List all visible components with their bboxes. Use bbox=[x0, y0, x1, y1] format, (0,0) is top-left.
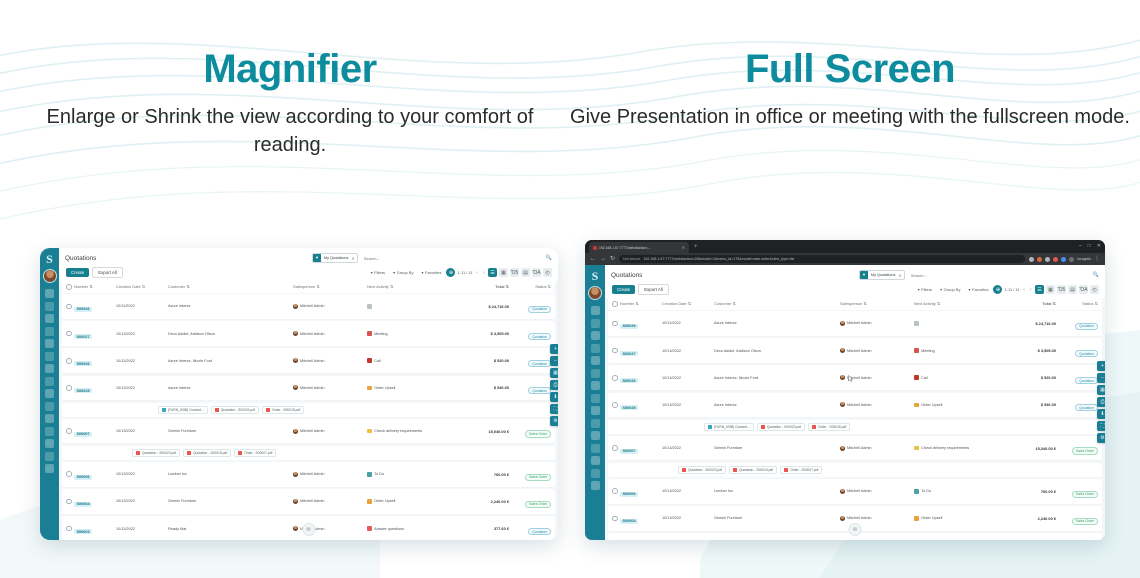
attachment-chip[interactable]: Quotation - S00023.pdf bbox=[757, 423, 805, 432]
cell-next-activity[interactable]: Check delivery requirements bbox=[914, 446, 1002, 451]
minimize-icon[interactable]: – bbox=[1079, 242, 1082, 250]
tool-group-by[interactable]: ▾Group By bbox=[390, 269, 416, 277]
order-number[interactable]: S00026 bbox=[620, 378, 638, 383]
row-checkbox[interactable] bbox=[66, 304, 74, 310]
magnifier-icon[interactable]: ⊕ bbox=[993, 285, 1002, 294]
save-button[interactable]: ⬇ bbox=[550, 392, 558, 402]
globe-icon[interactable] bbox=[45, 339, 54, 348]
arrow-left-icon[interactable]: ← bbox=[590, 256, 596, 262]
search-facet[interactable]: ▼ My Quotations ✕ bbox=[312, 253, 358, 263]
pdf-icon bbox=[266, 408, 270, 413]
settings-button[interactable]: ⚙ bbox=[1097, 433, 1105, 443]
row-checkbox[interactable] bbox=[66, 428, 74, 434]
salesperson-name: Mitchell Admin bbox=[300, 472, 324, 476]
people-icon[interactable] bbox=[591, 444, 600, 453]
column-header-creation-date[interactable]: Creation Date ⇅ bbox=[116, 284, 168, 289]
checkbox-icon bbox=[66, 499, 72, 505]
extension-icon bbox=[1029, 257, 1034, 262]
tool-group-by[interactable]: ▾Group By bbox=[937, 286, 963, 294]
magnifier-icon[interactable]: ⊕ bbox=[446, 268, 455, 277]
profile-label[interactable]: Incognito bbox=[1077, 257, 1091, 261]
box-icon[interactable] bbox=[591, 381, 600, 390]
row-checkbox[interactable] bbox=[612, 516, 620, 522]
gear-icon[interactable] bbox=[45, 464, 54, 473]
table-row[interactable]: S0000610/13/2022Lumber IncMitchell Admin… bbox=[608, 479, 1102, 505]
status-badge: Sales Order bbox=[525, 501, 551, 508]
table-row[interactable]: S0000710/13/2022Gemini FurnitureMitchell… bbox=[608, 436, 1102, 462]
window-controls[interactable]: – □ ✕ bbox=[1079, 242, 1101, 250]
status-badge: Quotation bbox=[528, 333, 551, 340]
avatar bbox=[293, 358, 298, 363]
row-checkbox[interactable] bbox=[612, 348, 620, 354]
attachment-row: Quotation - S00023.pdfQuotation - S00015… bbox=[62, 446, 555, 461]
cell-salesperson: Mitchell Admin bbox=[840, 489, 914, 494]
row-checkbox[interactable] bbox=[66, 358, 74, 364]
grid-button[interactable]: ▦ bbox=[550, 368, 558, 378]
status-badge: Quotation bbox=[1075, 323, 1098, 330]
clock-icon: ◴ bbox=[1092, 287, 1096, 293]
print-button[interactable]: ⎙ bbox=[1097, 397, 1105, 407]
activity-label: Meeting bbox=[374, 332, 388, 336]
pivot-view[interactable]: ▤ bbox=[521, 268, 530, 277]
export-all-button[interactable]: Export All bbox=[638, 284, 669, 295]
app-content: Quotations ▼ My Quotations ✕ 🔍 bbox=[605, 265, 1105, 540]
cell-number: S00007 bbox=[74, 422, 116, 440]
cell-status: Sales Order bbox=[1056, 439, 1098, 457]
table-row[interactable]: S0002610/13/2022Azure Interior, Nicole F… bbox=[62, 348, 555, 374]
cell-salesperson: Mitchell Admin bbox=[840, 321, 914, 326]
cell-total: 15,040.00 € bbox=[455, 429, 509, 434]
avatar[interactable] bbox=[43, 269, 57, 283]
cell-next-activity[interactable]: Meeting bbox=[914, 348, 1002, 353]
order-number[interactable]: S00027 bbox=[74, 334, 92, 339]
attachment-chip[interactable]: Quotation - S00015.pdf bbox=[183, 449, 231, 458]
avatar bbox=[293, 385, 298, 390]
order-number[interactable]: S00007 bbox=[74, 432, 92, 437]
table-body: S0002610/11/2022Azure InteriorMitchell A… bbox=[62, 294, 555, 540]
fullscreen-button[interactable]: ⛶ bbox=[1097, 421, 1105, 431]
star-icon: ▾ bbox=[968, 287, 970, 292]
order-number[interactable]: S00027 bbox=[620, 351, 638, 356]
attachment-chip[interactable]: Order - S00015.pdf bbox=[262, 406, 304, 415]
order-number[interactable]: S00026 bbox=[620, 324, 638, 329]
cell-number: S00027 bbox=[620, 342, 662, 360]
row-checkbox[interactable] bbox=[66, 526, 74, 532]
select-all-checkbox[interactable] bbox=[66, 284, 74, 290]
gear-icon[interactable] bbox=[591, 481, 600, 490]
cell-next-activity[interactable]: Answer questions bbox=[367, 526, 455, 531]
export-all-button[interactable]: Export All bbox=[92, 267, 123, 278]
attachment-chip[interactable]: Order - S00007.pdf bbox=[780, 466, 822, 475]
checkbox-icon bbox=[612, 348, 618, 354]
cell-total: $ 3,505.00 bbox=[1002, 348, 1056, 353]
create-button[interactable]: Create bbox=[612, 285, 635, 294]
activity-label: Call bbox=[921, 376, 928, 380]
order-number[interactable]: S00006 bbox=[620, 492, 638, 497]
create-button[interactable]: Create bbox=[66, 268, 89, 277]
checkbox-icon bbox=[612, 445, 618, 451]
status-badge: Quotation bbox=[1075, 404, 1098, 411]
attachment-chip[interactable]: [FURN_0096] Customi... bbox=[704, 423, 754, 432]
cell-next-activity[interactable]: Meeting bbox=[367, 331, 455, 336]
table-row[interactable]: S0000610/13/2022Lumber IncMitchell Admin… bbox=[62, 462, 555, 488]
attachment-name: Order - S00015.pdf bbox=[818, 425, 846, 429]
tool-filters[interactable]: ▾Filters bbox=[915, 286, 935, 294]
calendar-icon: Ὄ5 bbox=[1058, 287, 1066, 293]
list-view[interactable]: ☰ bbox=[488, 268, 497, 277]
globe-icon[interactable] bbox=[591, 356, 600, 365]
save-button[interactable]: ⬇ bbox=[1097, 409, 1105, 419]
list-view-table: Number ⇅Creation Date ⇅Customer ⇅Salespe… bbox=[605, 298, 1105, 540]
cell-salesperson: Mitchell Admin bbox=[293, 358, 367, 363]
cell-next-activity[interactable] bbox=[367, 304, 455, 309]
zoom-out-button[interactable]: − bbox=[1097, 373, 1105, 383]
browser-tab[interactable]: 192.168.1.67:7777/web/#action=... ✕ bbox=[589, 242, 689, 253]
tool-filters[interactable]: ▾Filters bbox=[368, 269, 388, 277]
attachment-chip[interactable]: Order - S00015.pdf bbox=[808, 423, 850, 432]
calendar-icon[interactable] bbox=[591, 331, 600, 340]
order-number[interactable]: S00026 bbox=[74, 307, 92, 312]
column-header-customer[interactable]: Customer ⇅ bbox=[714, 301, 840, 306]
cell-next-activity[interactable]: Order Upsell bbox=[914, 403, 1002, 408]
zoom-in-button[interactable]: + bbox=[550, 344, 558, 354]
calendar-view[interactable]: Ὄ5 bbox=[510, 268, 519, 277]
calendar-view[interactable]: Ὄ5 bbox=[1057, 285, 1066, 294]
url-bar[interactable]: Not secure 192.168.1.67:7777/web#action=… bbox=[619, 255, 1025, 263]
close-icon[interactable]: ✕ bbox=[1097, 242, 1101, 250]
table-row[interactable]: S0002710/13/2022Deco Addict, Addison Ols… bbox=[608, 338, 1102, 364]
row-checkbox[interactable] bbox=[612, 488, 620, 494]
grid-button[interactable]: ▦ bbox=[1097, 385, 1105, 395]
order-number[interactable]: S00026 bbox=[74, 361, 92, 366]
people-icon[interactable] bbox=[45, 427, 54, 436]
inbox-icon[interactable] bbox=[591, 419, 600, 428]
reload-icon[interactable]: ↻ bbox=[610, 256, 615, 262]
attachment-chip[interactable]: Quotation - S00023.pdf bbox=[678, 466, 726, 475]
inbox-icon[interactable] bbox=[45, 402, 54, 411]
cell-creation-date: 10/13/2022 bbox=[116, 359, 168, 363]
avatar bbox=[840, 489, 845, 494]
cell-customer: Gemini Furniture bbox=[714, 516, 840, 520]
cell-number: S00025 bbox=[620, 396, 662, 414]
cell-number: S00027 bbox=[74, 325, 116, 343]
checkbox-icon bbox=[66, 304, 72, 310]
app-sidebar[interactable]: S bbox=[40, 248, 59, 540]
attachment-chip[interactable]: [FURN_0096] Customi... bbox=[158, 406, 208, 415]
upsell-icon bbox=[914, 403, 919, 408]
cell-next-activity[interactable]: Call bbox=[914, 375, 1002, 380]
shop-icon[interactable] bbox=[591, 469, 600, 478]
avatar bbox=[840, 446, 845, 451]
grid-icon[interactable] bbox=[591, 394, 600, 403]
pdf-icon bbox=[784, 468, 788, 473]
attachment-name: Quotation - S00023.pdf bbox=[142, 451, 176, 455]
activity-label: Call bbox=[374, 359, 381, 363]
row-checkbox[interactable] bbox=[612, 375, 620, 381]
search-input-wrapper[interactable] bbox=[362, 255, 542, 262]
magnifier-toolbar[interactable]: +−▦⎙⬇⛶⚙ bbox=[550, 344, 558, 426]
cell-number: S00007 bbox=[620, 439, 662, 457]
cell-next-activity[interactable]: To Do bbox=[914, 489, 1002, 494]
note-icon bbox=[367, 429, 372, 434]
order-number[interactable]: S00003 bbox=[74, 529, 92, 534]
search-input-wrapper[interactable] bbox=[909, 272, 1089, 279]
activity-view[interactable]: ◴ bbox=[543, 268, 552, 277]
column-header-creation-date[interactable]: Creation Date ⇅ bbox=[662, 301, 714, 306]
search-facet[interactable]: ▼ My Quotations ✕ bbox=[859, 270, 905, 280]
calendar-icon[interactable] bbox=[45, 314, 54, 323]
gear-icon: ⚙ bbox=[553, 418, 557, 424]
cell-status: Quotation bbox=[1056, 369, 1098, 387]
filter-icon[interactable] bbox=[45, 302, 54, 311]
table-row[interactable]: S0002610/11/2022Azure InteriorMitchell A… bbox=[608, 311, 1102, 337]
column-header-next-activity[interactable]: Next Activity ⇅ bbox=[367, 284, 455, 289]
cell-total: $ 24,716.00 bbox=[1002, 321, 1056, 326]
page-title-secondary: Full Screen bbox=[570, 0, 1130, 90]
filter-icon: ▼ bbox=[313, 254, 321, 262]
cell-next-activity[interactable]: Call bbox=[367, 358, 455, 363]
zoom-in-button[interactable]: + bbox=[1097, 361, 1105, 371]
cell-creation-date: 10/13/2022 bbox=[116, 499, 168, 503]
status-badge: Quotation bbox=[1075, 377, 1098, 384]
magnifier-toolbar[interactable]: +−▦⎙⬇⛶⚙ bbox=[1097, 361, 1105, 443]
column-header-salesperson[interactable]: Salesperson ⇅ bbox=[293, 284, 367, 289]
tool-favorites[interactable]: ▾Favorites bbox=[418, 269, 444, 277]
order-number[interactable]: S00007 bbox=[620, 449, 638, 454]
floating-chat-button[interactable]: ✉ bbox=[849, 523, 862, 536]
column-header-total[interactable]: Total ⇅ bbox=[1002, 301, 1056, 306]
plus-icon: + bbox=[554, 346, 557, 352]
chevron-right-icon[interactable]: › bbox=[1028, 287, 1033, 293]
checkbox-icon bbox=[612, 301, 618, 307]
close-icon[interactable]: ✕ bbox=[898, 273, 903, 278]
search-input[interactable] bbox=[909, 272, 1089, 279]
chevron-right-icon[interactable]: › bbox=[481, 270, 486, 276]
truck-icon[interactable] bbox=[45, 327, 54, 336]
cell-next-activity[interactable]: Check delivery requirements bbox=[367, 429, 455, 434]
column-header-total[interactable]: Total ⇅ bbox=[455, 284, 509, 289]
order-number[interactable]: S00004 bbox=[74, 502, 92, 507]
pdf-icon bbox=[187, 451, 191, 456]
order-number[interactable]: S00006 bbox=[74, 475, 92, 480]
cell-creation-date: 10/13/2022 bbox=[116, 527, 168, 531]
scissors-icon[interactable] bbox=[591, 406, 600, 415]
cell-customer: Azure Interior, Nicole Ford bbox=[714, 376, 840, 380]
attachment-name: Quotation - S00023.pdf bbox=[688, 468, 722, 472]
attachment-chip[interactable]: Order - S00007.pdf bbox=[234, 449, 276, 458]
minus-icon: − bbox=[554, 358, 557, 364]
column-header-number[interactable]: Number ⇅ bbox=[620, 301, 662, 306]
order-number[interactable]: S00025 bbox=[620, 405, 638, 410]
truck-icon[interactable] bbox=[591, 344, 600, 353]
pivot-view[interactable]: ▤ bbox=[1068, 285, 1077, 294]
column-header-customer[interactable]: Customer ⇅ bbox=[168, 284, 293, 289]
cell-next-activity[interactable]: To Do bbox=[367, 472, 455, 477]
cell-salesperson: Mitchell Admin bbox=[293, 429, 367, 434]
kebab-menu-icon[interactable]: ⋮ bbox=[1094, 256, 1100, 262]
url-text: 192.168.1.67:7777/web#action=28&model=1&… bbox=[643, 257, 794, 261]
messages-icon[interactable] bbox=[45, 289, 54, 298]
cell-creation-date: 10/13/2022 bbox=[662, 489, 714, 493]
row-checkbox[interactable] bbox=[612, 445, 620, 451]
settings-button[interactable]: ⚙ bbox=[550, 416, 558, 426]
salesperson-name: Mitchell Admin bbox=[847, 516, 871, 520]
table-row[interactable]: S0000710/13/2022Gemini FurnitureMitchell… bbox=[62, 419, 555, 445]
printer-icon: ⎙ bbox=[1100, 399, 1104, 405]
kanban-view[interactable]: ▦ bbox=[499, 268, 508, 277]
extension-icon bbox=[1061, 257, 1066, 262]
calendar-icon: Ὄ5 bbox=[511, 270, 519, 276]
column-header-status[interactable]: Status ⇅ bbox=[509, 284, 551, 289]
cell-number: S00026 bbox=[620, 314, 662, 332]
search-icon[interactable]: 🔍 bbox=[1093, 272, 1099, 278]
minus-icon: − bbox=[1101, 375, 1104, 381]
avatar[interactable] bbox=[588, 286, 602, 300]
pager-label: 1-11 / 11 bbox=[457, 270, 472, 275]
order-number[interactable]: S00025 bbox=[74, 388, 92, 393]
cell-total: $ 520.00 bbox=[455, 358, 509, 363]
table-header: Number ⇅Creation Date ⇅Customer ⇅Salespe… bbox=[62, 281, 555, 293]
shop-icon[interactable] bbox=[45, 452, 54, 461]
camera-icon[interactable] bbox=[591, 431, 600, 440]
chevron-left-icon[interactable]: ‹ bbox=[475, 270, 480, 276]
chart-icon[interactable] bbox=[45, 352, 54, 361]
sidebar-icon-list[interactable] bbox=[45, 289, 54, 477]
filter-icon[interactable] bbox=[591, 319, 600, 328]
column-header-salesperson[interactable]: Salesperson ⇅ bbox=[840, 301, 914, 306]
row-checkbox[interactable] bbox=[66, 385, 74, 391]
checkbox-icon bbox=[66, 284, 72, 290]
person-icon[interactable] bbox=[591, 456, 600, 465]
row-checkbox[interactable] bbox=[66, 499, 74, 505]
promo-subtitle: Enlarge or Shrink the view according to … bbox=[10, 104, 570, 159]
attachment-name: Order - S00015.pdf bbox=[272, 408, 300, 412]
column-header-status[interactable]: Status ⇅ bbox=[1056, 301, 1098, 306]
arrow-right-icon[interactable]: → bbox=[600, 256, 606, 262]
table-row[interactable]: S0002710/13/2022Deco Addict, Addison Ols… bbox=[62, 321, 555, 347]
plus-icon[interactable]: + bbox=[694, 242, 698, 253]
cell-creation-date: 10/11/2022 bbox=[116, 304, 168, 308]
kanban-view[interactable]: ▦ bbox=[1046, 285, 1055, 294]
sidebar-icon-list[interactable] bbox=[591, 306, 600, 494]
kanban-icon: ▦ bbox=[1048, 287, 1053, 293]
status-badge: Sales Order bbox=[1072, 491, 1098, 498]
attachment-chip[interactable]: Quotation - S00023.pdf bbox=[132, 449, 180, 458]
table-row[interactable]: S0002510/13/2022Azure InteriorMitchell A… bbox=[62, 376, 555, 402]
salesperson-name: Mitchell Admin bbox=[300, 429, 324, 433]
browser-extensions[interactable]: Incognito ⋮ bbox=[1029, 256, 1100, 262]
image-icon bbox=[162, 408, 166, 413]
chevron-left-icon[interactable]: ‹ bbox=[1022, 287, 1027, 293]
cell-status: Sales Order bbox=[509, 492, 551, 510]
maximize-icon[interactable]: □ bbox=[1088, 242, 1091, 250]
tool-favorites[interactable]: ▾Favorites bbox=[965, 286, 991, 294]
column-header-next-activity[interactable]: Next Activity ⇅ bbox=[914, 301, 1002, 306]
pdf-icon bbox=[682, 468, 686, 473]
search-icon[interactable]: 🔍 bbox=[546, 255, 552, 261]
cell-creation-date: 10/13/2022 bbox=[116, 429, 168, 433]
row-checkbox[interactable] bbox=[612, 402, 620, 408]
promo-column-fullscreen: Full Screen Give Presentation in office … bbox=[570, 0, 1130, 132]
messages-icon[interactable] bbox=[591, 306, 600, 315]
cell-status: Quotation bbox=[509, 297, 551, 315]
cell-next-activity[interactable]: Order Upsell bbox=[367, 499, 455, 504]
gear-icon: ⚙ bbox=[1100, 435, 1104, 441]
pdf-icon bbox=[136, 451, 140, 456]
filter-icon: ▼ bbox=[860, 271, 868, 279]
fullscreen-button[interactable]: ⛶ bbox=[550, 404, 558, 414]
table-row[interactable]: S0002610/13/2022Azure Interior, Nicole F… bbox=[608, 365, 1102, 391]
salesperson-name: Mitchell Admin bbox=[847, 349, 871, 353]
save-icon: ⬇ bbox=[1100, 411, 1104, 417]
cell-total: 760.00 € bbox=[455, 472, 509, 477]
camera-icon[interactable] bbox=[45, 414, 54, 423]
app-sidebar[interactable]: S bbox=[585, 265, 605, 540]
column-header-number[interactable]: Number ⇅ bbox=[74, 284, 116, 289]
filter-icon: ▾ bbox=[371, 270, 373, 275]
order-number[interactable]: S00004 bbox=[620, 519, 638, 524]
cell-status: Quotation bbox=[509, 520, 551, 538]
favicon-icon bbox=[593, 246, 597, 250]
table-row[interactable]: S0000410/13/2022Gemini FurnitureMitchell… bbox=[62, 489, 555, 515]
table-row[interactable]: S0002610/11/2022Azure InteriorMitchell A… bbox=[62, 294, 555, 320]
cell-next-activity[interactable] bbox=[914, 321, 1002, 326]
activity-label: Check delivery requirements bbox=[374, 429, 422, 433]
scissors-icon[interactable] bbox=[45, 389, 54, 398]
table-row[interactable]: S0002510/13/2022Azure InteriorMitchell A… bbox=[608, 393, 1102, 419]
chart-icon[interactable] bbox=[591, 369, 600, 378]
close-icon[interactable]: ✕ bbox=[351, 256, 356, 261]
cell-status: Quotation bbox=[509, 325, 551, 343]
cell-creation-date: 10/13/2022 bbox=[116, 386, 168, 390]
cell-next-activity[interactable]: Order Upsell bbox=[367, 386, 455, 391]
cell-creation-date: 10/13/2022 bbox=[116, 332, 168, 336]
cell-customer: Azure Interior bbox=[714, 403, 840, 407]
select-all-checkbox[interactable] bbox=[612, 301, 620, 307]
upsell-icon bbox=[367, 386, 372, 391]
zoom-out-button[interactable]: − bbox=[550, 356, 558, 366]
attachment-chip[interactable]: Quotation - S00015.pdf bbox=[729, 466, 777, 475]
floating-chat-button[interactable]: ✉ bbox=[302, 523, 315, 536]
search-input[interactable] bbox=[362, 255, 542, 262]
cell-total: 377.60 € bbox=[455, 526, 509, 531]
graph-view[interactable]: ὌA bbox=[532, 268, 541, 277]
cell-customer: Azure Interior bbox=[714, 321, 840, 325]
graph-view[interactable]: ὌA bbox=[1079, 285, 1088, 294]
person-icon[interactable] bbox=[45, 439, 54, 448]
row-checkbox[interactable] bbox=[612, 321, 620, 327]
attachment-chip[interactable]: Quotation - S00023.pdf bbox=[211, 406, 259, 415]
salesperson-name: Mitchell Admin bbox=[300, 304, 324, 308]
close-icon[interactable]: ✕ bbox=[682, 245, 685, 250]
grid-icon[interactable] bbox=[45, 377, 54, 386]
cell-next-activity[interactable]: Order Upsell bbox=[914, 516, 1002, 521]
cell-salesperson: Mitchell Admin bbox=[293, 472, 367, 477]
app-logo-icon: S bbox=[588, 269, 602, 283]
todo-icon bbox=[367, 472, 372, 477]
attachment-name: Order - S00007.pdf bbox=[790, 468, 818, 472]
print-button[interactable]: ⎙ bbox=[550, 380, 558, 390]
note-icon bbox=[914, 446, 919, 451]
status-badge: Quotation bbox=[528, 360, 551, 367]
box-icon[interactable] bbox=[45, 364, 54, 373]
activity-view[interactable]: ◴ bbox=[1090, 285, 1099, 294]
row-checkbox[interactable] bbox=[66, 471, 74, 477]
row-checkbox[interactable] bbox=[66, 331, 74, 337]
checkbox-icon bbox=[66, 385, 72, 391]
list-view[interactable]: ☰ bbox=[1035, 285, 1044, 294]
app-logo-icon: S bbox=[43, 252, 57, 266]
